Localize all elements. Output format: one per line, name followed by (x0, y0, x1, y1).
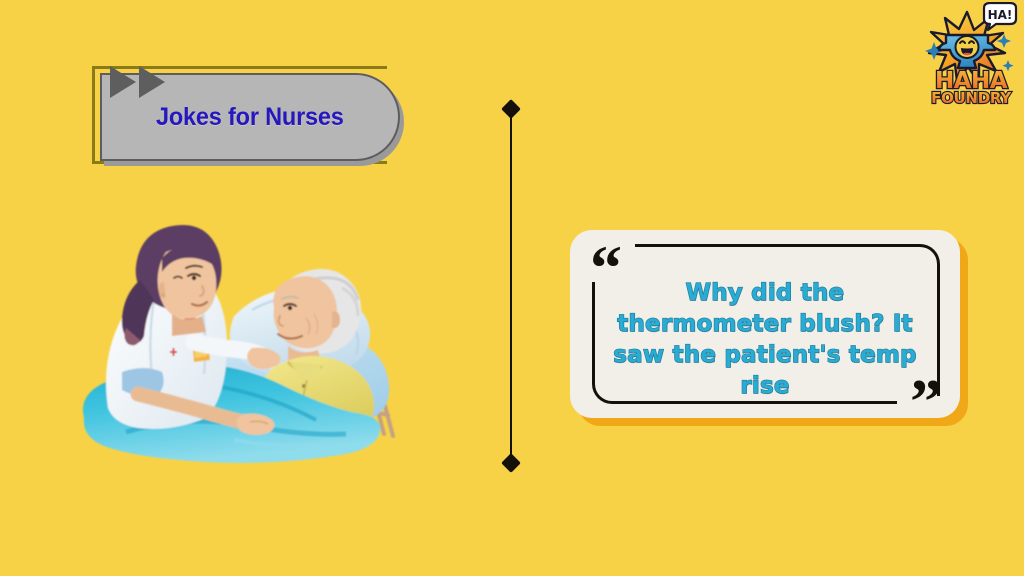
slide-canvas: Jokes for Nurses (0, 0, 1024, 576)
speech-bubble-text: HA! (988, 8, 1013, 22)
quote-close-icon: ” (910, 370, 942, 418)
play-triangle-icon (110, 66, 136, 98)
title-banner: Jokes for Nurses (92, 66, 404, 166)
page-title: Jokes for Nurses (156, 103, 344, 132)
divider-diamond-icon (501, 453, 521, 473)
nurse-patient-illustration (66, 196, 406, 464)
quote-card: “ Why did the thermometer blush? It saw … (570, 230, 968, 426)
haha-foundry-logo[interactable]: HA! HAHA FOUNDRY (920, 2, 1022, 106)
quote-card-body: “ Why did the thermometer blush? It saw … (570, 230, 960, 418)
brand-name-line2: FOUNDRY (931, 89, 1012, 106)
joke-text: Why did the thermometer blush? It saw th… (596, 278, 934, 402)
divider-line (510, 109, 512, 463)
play-triangle-icon (139, 66, 165, 98)
vertical-divider (498, 100, 524, 472)
